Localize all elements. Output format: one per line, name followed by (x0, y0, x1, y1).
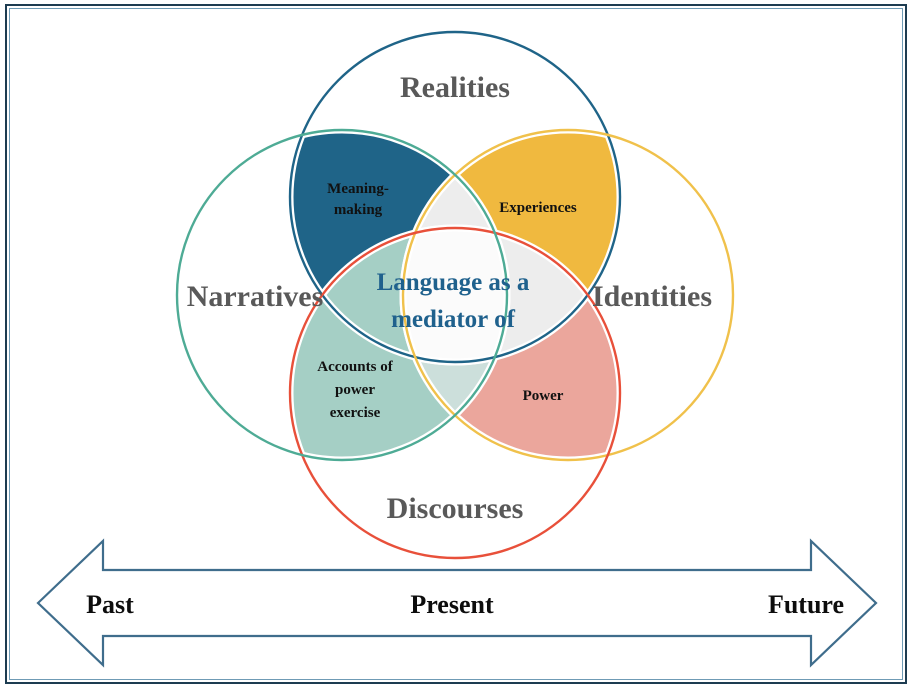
circle-label-narratives: Narratives (187, 280, 324, 313)
svg-text:Language as a: Language as a (377, 269, 530, 296)
svg-text:mediator of: mediator of (391, 306, 515, 333)
timeline-label-future: Future (768, 590, 844, 619)
circle-label-realities: Realities (400, 71, 510, 104)
timeline-label-past: Past (86, 590, 134, 619)
lens-label-power: Power (523, 388, 564, 404)
svg-text:Experiences: Experiences (499, 200, 577, 216)
lens-label-experiences: Experiences (499, 200, 577, 216)
circle-label-identities: Identities (592, 280, 712, 313)
svg-text:exercise: exercise (330, 405, 381, 421)
svg-text:Meaning-: Meaning- (327, 181, 389, 197)
circle-label-discourses: Discourses (387, 492, 524, 525)
svg-text:making: making (334, 202, 383, 218)
timeline-label-present: Present (410, 590, 494, 619)
svg-text:Power: Power (523, 388, 564, 404)
diagram-page: Realities Identities Discourses Narrativ… (0, 0, 914, 692)
svg-text:power: power (335, 382, 375, 398)
svg-text:Accounts of: Accounts of (317, 359, 393, 375)
venn-diagram: Realities Identities Discourses Narrativ… (0, 0, 914, 692)
